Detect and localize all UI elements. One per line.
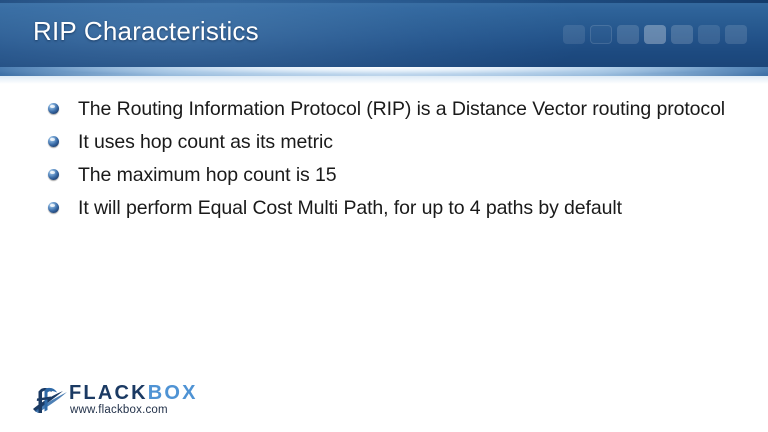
list-item: It will perform Equal Cost Multi Path, f… <box>46 195 768 221</box>
deco-square-2 <box>590 25 612 44</box>
bullet-text: It will perform Equal Cost Multi Path, f… <box>78 197 622 219</box>
logo-wordmark: FLACKBOX <box>69 383 198 403</box>
slide-header: RIP Characteristics <box>0 0 768 67</box>
deco-square-7 <box>725 25 747 44</box>
header-underglow <box>0 67 768 76</box>
list-item: It uses hop count as its metric <box>46 129 768 155</box>
logo-word-primary: FLACK <box>69 382 148 404</box>
deco-square-6 <box>698 25 720 44</box>
bullet-text: It uses hop count as its metric <box>78 131 333 153</box>
deco-square-1 <box>563 25 585 44</box>
header-underglow-fade <box>0 76 768 84</box>
bullet-text: The Routing Information Protocol (RIP) i… <box>78 98 725 120</box>
slide-body: The Routing Information Protocol (RIP) i… <box>0 96 768 228</box>
header-top-rule <box>0 0 768 3</box>
flackbox-swoosh-icon <box>29 383 71 417</box>
deco-square-3 <box>617 25 639 44</box>
bullet-sphere-icon <box>48 103 59 114</box>
deco-square-5 <box>671 25 693 44</box>
bullet-sphere-icon <box>48 136 59 147</box>
bullet-text: The maximum hop count is 15 <box>78 164 337 186</box>
slide-canvas: RIP Characteristics The Routing Informat… <box>0 0 768 432</box>
page-title: RIP Characteristics <box>33 16 259 47</box>
logo-url: www.flackbox.com <box>70 404 168 416</box>
deco-square-4 <box>644 25 666 44</box>
list-item: The Routing Information Protocol (RIP) i… <box>46 96 768 122</box>
bullet-sphere-icon <box>48 169 59 180</box>
header-decoration-squares <box>563 25 747 44</box>
flackbox-logo: FLACKBOX www.flackbox.com <box>29 381 219 423</box>
bullet-list: The Routing Information Protocol (RIP) i… <box>0 96 768 221</box>
bullet-sphere-icon <box>48 202 59 213</box>
list-item: The maximum hop count is 15 <box>46 162 768 188</box>
logo-word-secondary: BOX <box>148 382 198 404</box>
